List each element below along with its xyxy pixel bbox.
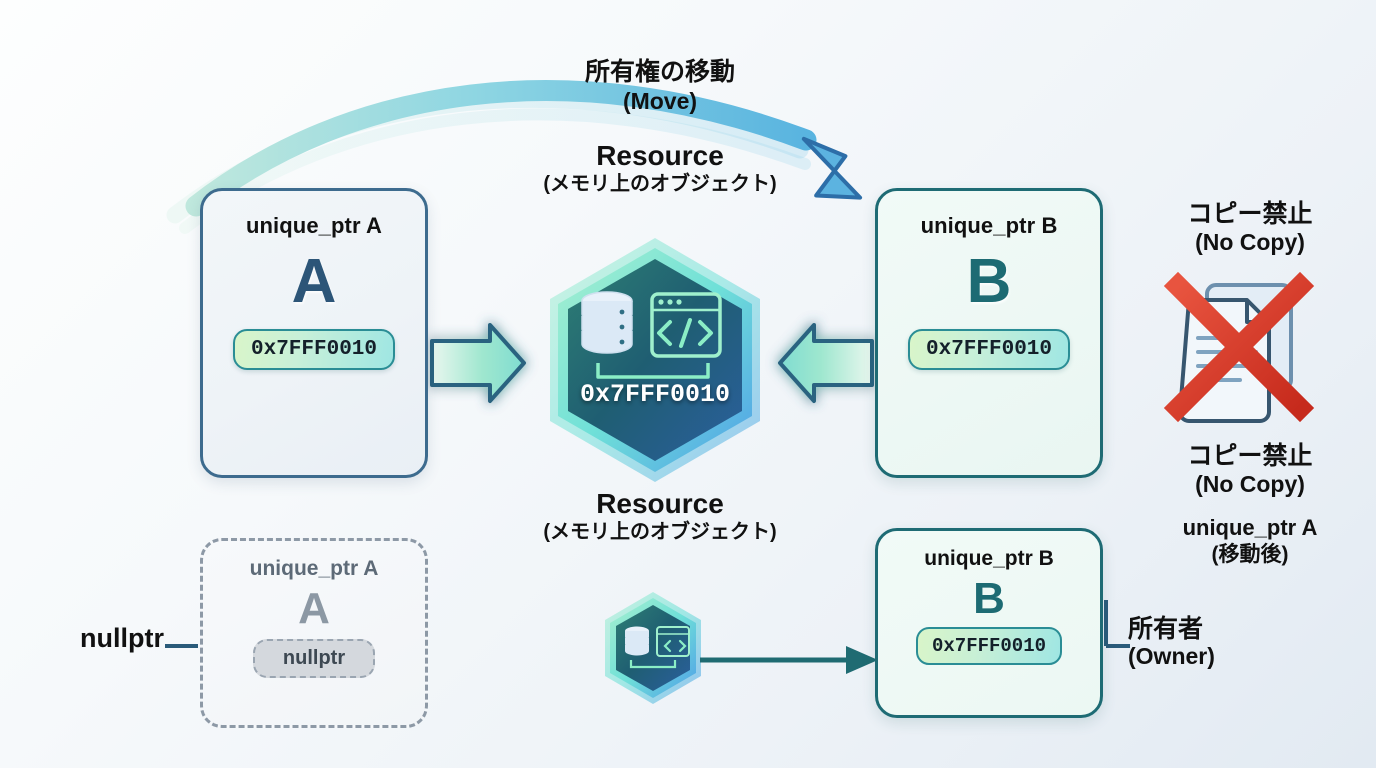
nullptr-label: nullptr xyxy=(80,623,164,653)
card-unique-ptr-b-after[interactable]: unique_ptr B B 0x7FFF0010 xyxy=(875,528,1103,718)
card-a-title: unique_ptr A xyxy=(246,213,382,239)
card-a-address: 0x7FFF0010 xyxy=(233,329,395,370)
unique-ptr-a-after-label: unique_ptr A (移動後) xyxy=(1150,516,1350,566)
resource-caption-bottom: Resource (メモリ上のオブジェクト) xyxy=(495,488,825,544)
card-a-letter: A xyxy=(292,251,337,313)
database-icon xyxy=(582,292,632,353)
card-b-letter: B xyxy=(967,251,1012,313)
card-b-after-title: unique_ptr B xyxy=(924,547,1054,571)
card-b-after-letter: B xyxy=(973,577,1005,621)
owner-label-main: 所有者 xyxy=(1128,615,1203,643)
move-caption-sub: (Move) xyxy=(560,89,760,115)
owner-label: 所有者 (Owner) xyxy=(1128,615,1258,670)
resource-hexagon-small xyxy=(605,592,701,704)
arrow-b-to-resource xyxy=(780,325,872,401)
card-b-after-address: 0x7FFF0010 xyxy=(916,627,1062,665)
crossed-out-document-icon xyxy=(1178,285,1300,421)
card-b-title: unique_ptr B xyxy=(921,213,1058,239)
resource-caption-top: Resource (メモリ上のオブジェクト) xyxy=(500,140,820,196)
arrow-resource-to-b-after xyxy=(700,646,878,674)
no-copy-label-top-sub: (No Copy) xyxy=(1150,230,1350,256)
resource-hexagon xyxy=(550,238,760,482)
database-icon-small xyxy=(625,627,649,656)
card-b-after-icon-row: B xyxy=(921,577,1057,621)
card-a-after-title: unique_ptr A xyxy=(250,557,379,581)
card-unique-ptr-b[interactable]: unique_ptr B B 0x7FFF0010 xyxy=(875,188,1103,478)
card-unique-ptr-a-after[interactable]: unique_ptr A A nullptr xyxy=(200,538,428,728)
diagram-canvas: 0x7FFF0010 所有権の移動 (Move) Resource (メモリ上の… xyxy=(0,0,1376,768)
no-copy-label-top-main: コピー禁止 xyxy=(1187,200,1312,228)
card-a-after-letter: A xyxy=(298,587,330,631)
card-a-after-icon-row: A xyxy=(246,587,382,631)
card-unique-ptr-a[interactable]: unique_ptr A A 0x7FFF0010 xyxy=(200,188,428,478)
resource-caption-top-sub: (メモリ上のオブジェクト) xyxy=(500,173,820,195)
no-copy-label-top: コピー禁止 (No Copy) xyxy=(1150,200,1350,256)
move-caption: 所有権の移動 (Move) xyxy=(560,58,760,115)
resource-caption-top-main: Resource xyxy=(596,140,724,171)
owner-label-sub: (Owner) xyxy=(1128,644,1258,670)
move-caption-main: 所有権の移動 xyxy=(585,58,735,86)
card-b-address: 0x7FFF0010 xyxy=(908,329,1070,370)
resource-caption-bottom-main: Resource xyxy=(596,488,724,519)
no-copy-label-bottom-main: コピー禁止 xyxy=(1187,442,1312,470)
no-copy-label-bottom: コピー禁止 (No Copy) xyxy=(1150,442,1350,498)
card-a-after-value: nullptr xyxy=(253,639,375,678)
no-copy-label-bottom-sub: (No Copy) xyxy=(1150,472,1350,498)
resource-caption-bottom-sub: (メモリ上のオブジェクト) xyxy=(495,521,825,543)
unique-ptr-a-after-main: unique_ptr A xyxy=(1183,515,1318,540)
unique-ptr-a-after-sub: (移動後) xyxy=(1150,543,1350,567)
arrow-a-to-resource xyxy=(432,325,524,401)
resource-address: 0x7FFF0010 xyxy=(550,380,760,409)
